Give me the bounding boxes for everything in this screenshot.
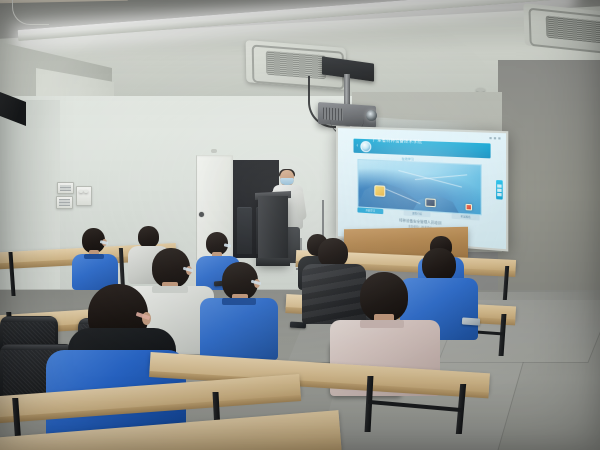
institution-logo-icon: [360, 140, 371, 152]
projector-lens-icon: [366, 110, 377, 121]
wall-indicator-icon: [84, 190, 88, 193]
attendee-collar: [222, 298, 256, 305]
attendee-collar: [84, 254, 104, 259]
attendee-head: [138, 226, 159, 248]
mobile-phone-icon[interactable]: [462, 317, 480, 325]
map-marker-icon: [425, 198, 435, 207]
classroom-photo: ‹ 广东省特种设备技术学院 GUANGDONG POLYTECHNIC OF S…: [0, 0, 600, 450]
wall-control-panel-lower[interactable]: [56, 196, 73, 209]
attendee-blue-uniform-left: [72, 228, 118, 290]
door-sensor-icon: [211, 149, 217, 153]
map-marker-icon: [466, 204, 472, 211]
map-marker-icon: [374, 185, 385, 197]
slide-tertiary-button[interactable]: 考试报名: [452, 213, 480, 220]
floating-service-tab[interactable]: [496, 180, 503, 200]
wall-indicator-icon: [79, 190, 83, 193]
wall-control-panel-upper[interactable]: [57, 182, 74, 194]
slide-secondary-button[interactable]: 课程介绍: [404, 210, 431, 217]
door-handle-icon[interactable]: [199, 212, 204, 217]
attendee-collar: [360, 320, 404, 328]
presenter-face-mask-icon: [280, 178, 294, 185]
mobile-phone-icon[interactable]: [290, 322, 306, 329]
slide-header: ‹ 广东省特种设备技术学院 GUANGDONG POLYTECHNIC OF S…: [354, 139, 491, 159]
window-controls-icon[interactable]: [489, 137, 500, 140]
back-arrow-icon[interactable]: ‹: [356, 143, 358, 148]
attendee-torso: [200, 298, 278, 360]
wall-outlet-plate[interactable]: [76, 186, 92, 206]
slide-primary-button[interactable]: 开始学习: [357, 207, 383, 214]
attendee-blue-uniform-front: [200, 262, 278, 360]
lectern: [258, 196, 288, 264]
slide-header-title: 广东省特种设备技术学院: [373, 137, 422, 144]
